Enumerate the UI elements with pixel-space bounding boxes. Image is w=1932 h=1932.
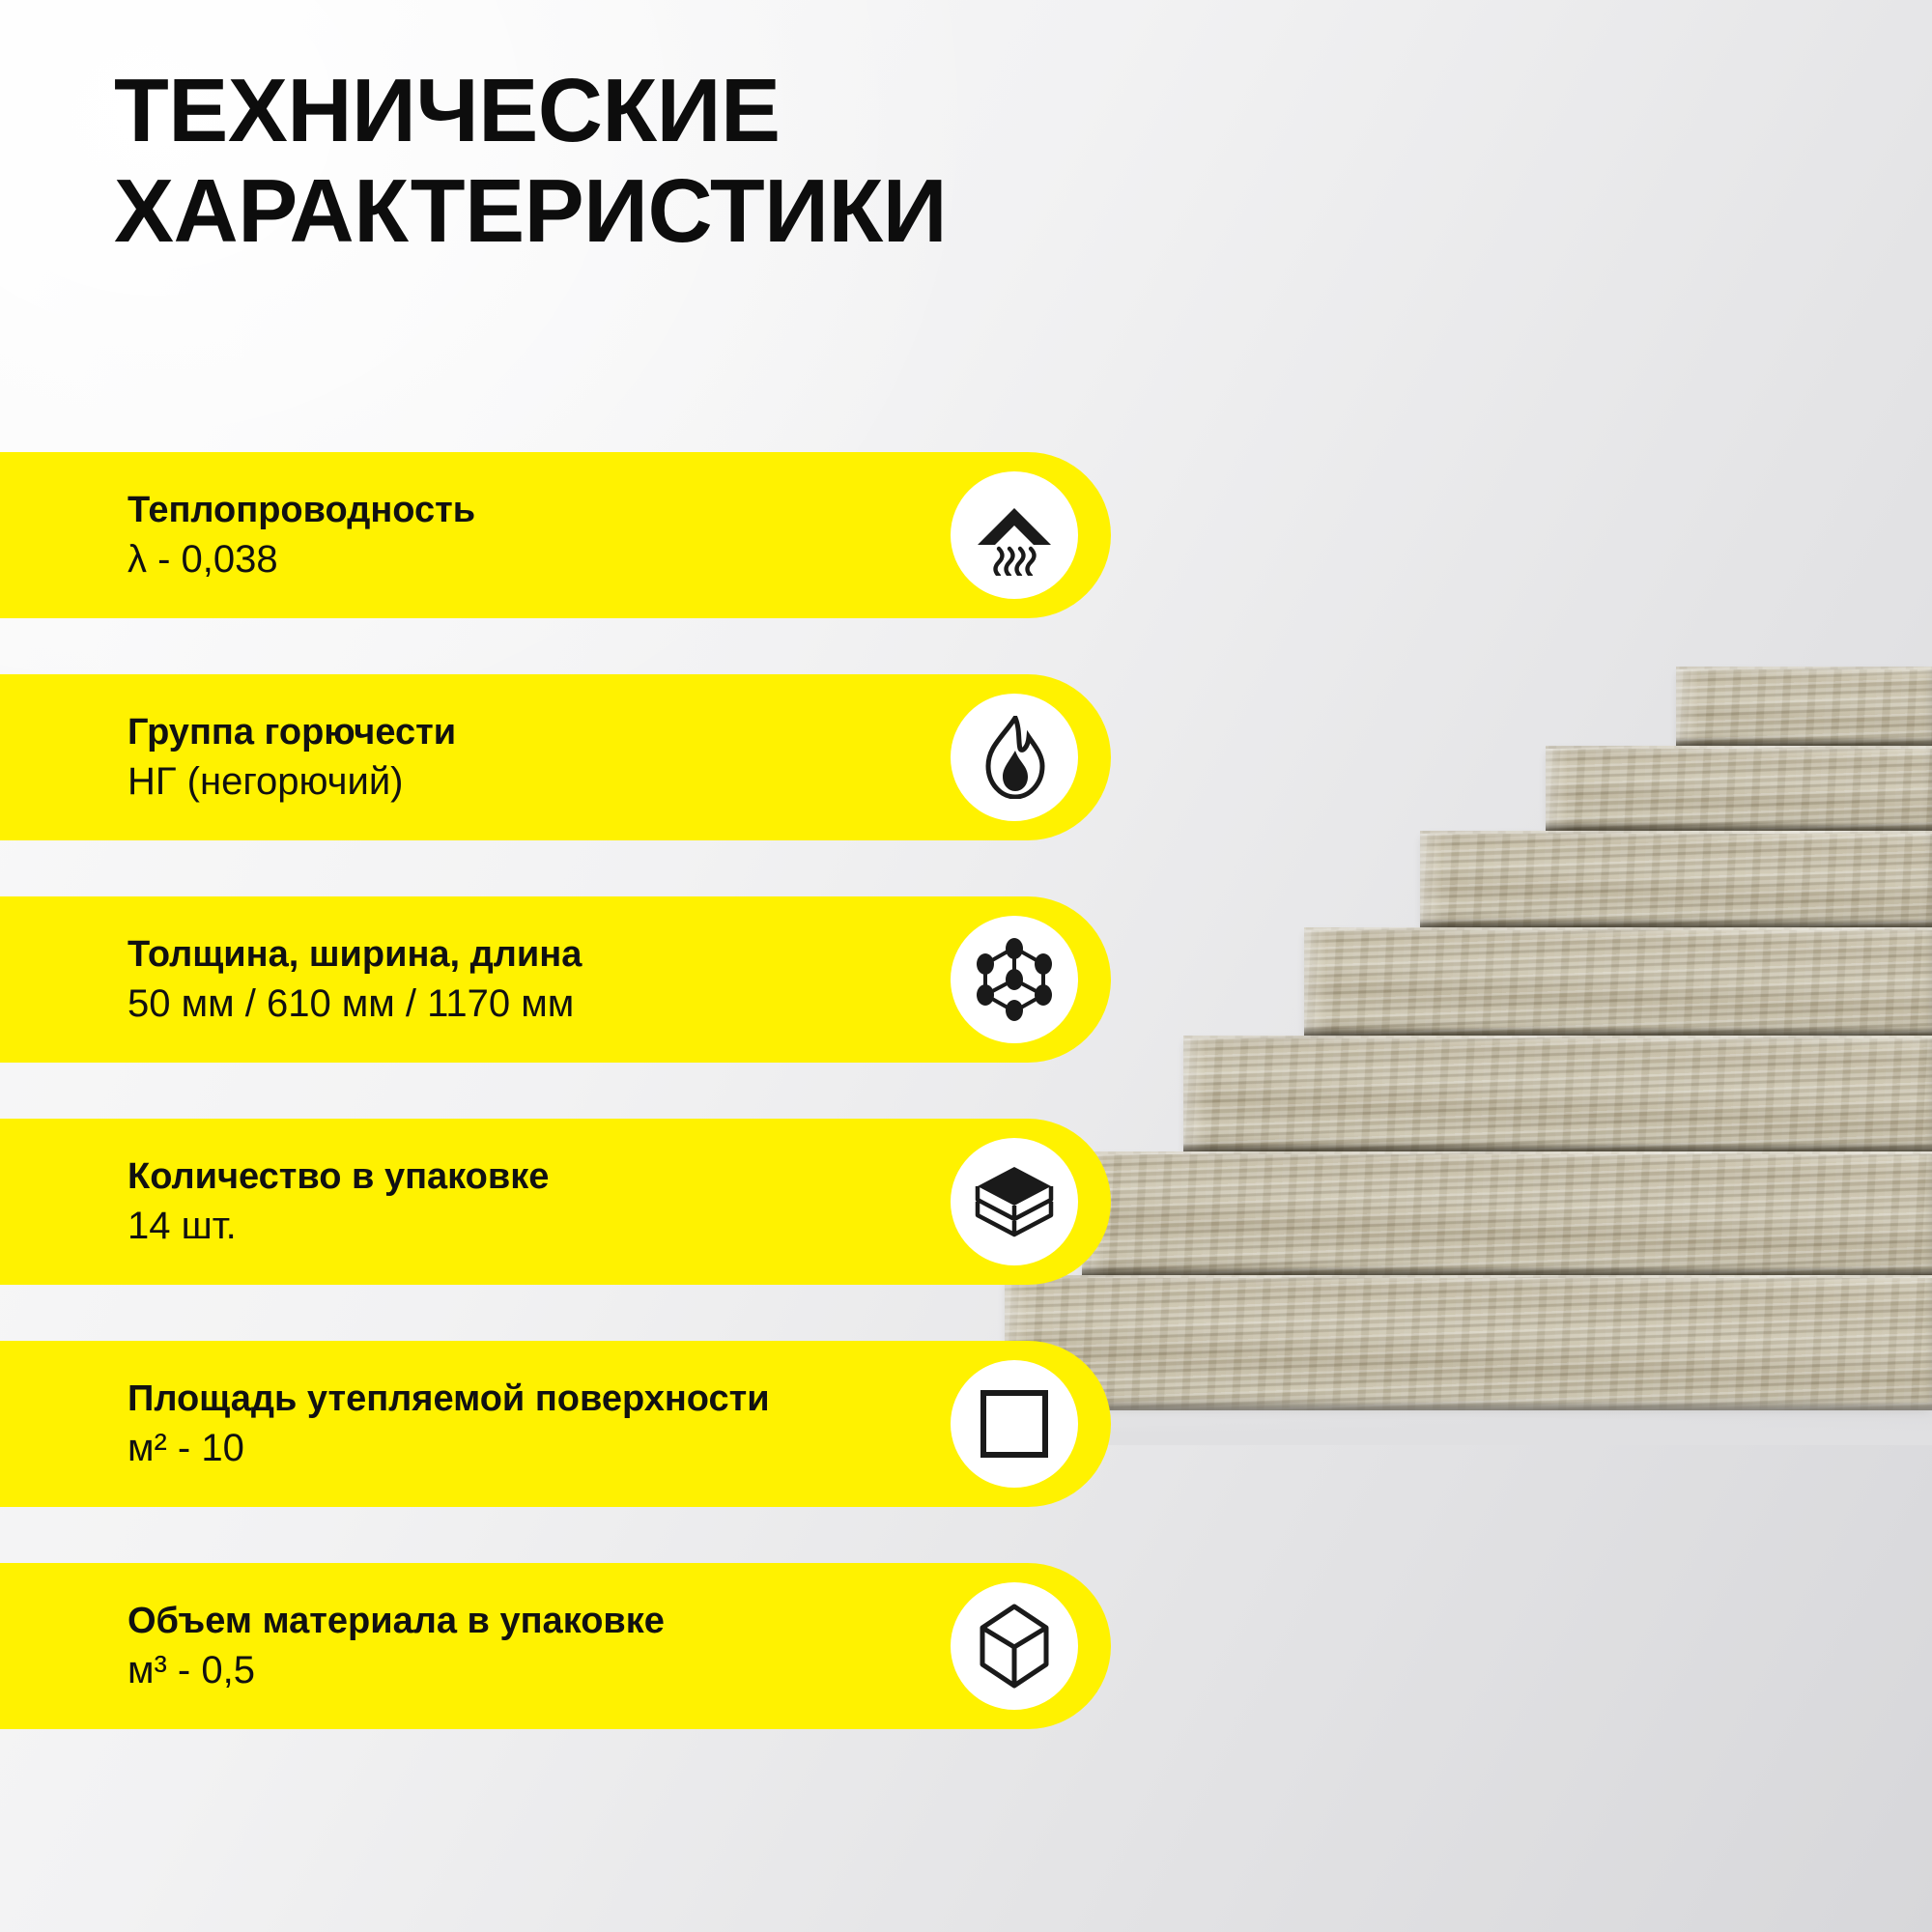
spec-value: λ - 0,038 (128, 540, 475, 579)
product-photo (966, 667, 1932, 1439)
spec-list: Теплопроводность λ - 0,038 (0, 452, 1111, 1785)
spec-text: Объем материала в упаковке м³ - 0,5 (0, 1603, 665, 1690)
spec-value: НГ (негорючий) (128, 762, 456, 801)
flame-icon (977, 716, 1052, 799)
insulation-slab (1304, 927, 1932, 1036)
spec-text: Площадь утепляемой поверхности м² - 10 (0, 1380, 770, 1467)
spec-label: Объем материала в упаковке (128, 1603, 665, 1639)
insulation-slab (1420, 831, 1932, 927)
spec-text: Группа горючести НГ (негорючий) (0, 714, 456, 801)
spec-label: Теплопроводность (128, 492, 475, 528)
spec-row-coverage-area[interactable]: Площадь утепляемой поверхности м² - 10 (0, 1341, 1111, 1507)
spec-text: Толщина, ширина, длина 50 мм / 610 мм / … (0, 936, 582, 1023)
spec-label: Толщина, ширина, длина (128, 936, 582, 973)
photo-bottom-fade (966, 1397, 1932, 1445)
spec-icon-badge (951, 1360, 1078, 1488)
stacked-layers-icon (972, 1163, 1057, 1240)
insulation-slab (1183, 1036, 1932, 1151)
infographic-canvas: ТЕХНИЧЕСКИЕ ХАРАКТЕРИСТИКИ Теплопроводно… (0, 0, 1932, 1932)
spec-value: м² - 10 (128, 1429, 770, 1467)
spec-row-volume-per-pack[interactable]: Объем материала в упаковке м³ - 0,5 (0, 1563, 1111, 1729)
spec-row-quantity-per-pack[interactable]: Количество в упаковке 14 шт. (0, 1119, 1111, 1285)
spec-value: 14 шт. (128, 1207, 549, 1245)
spec-icon-badge (951, 1582, 1078, 1710)
spec-icon-badge (951, 1138, 1078, 1265)
page-title: ТЕХНИЧЕСКИЕ ХАРАКТЕРИСТИКИ (114, 60, 1177, 261)
spec-label: Группа горючести (128, 714, 456, 751)
spec-icon-badge (951, 694, 1078, 821)
spec-icon-badge (951, 471, 1078, 599)
spec-text: Количество в упаковке 14 шт. (0, 1158, 549, 1245)
box-volume-icon (977, 1603, 1052, 1690)
spec-icon-badge (951, 916, 1078, 1043)
cube-nodes-icon (974, 938, 1055, 1021)
insulation-slab (1546, 746, 1932, 831)
spec-row-flammability-group[interactable]: Группа горючести НГ (негорючий) (0, 674, 1111, 840)
spec-row-dimensions[interactable]: Толщина, ширина, длина 50 мм / 610 мм / … (0, 896, 1111, 1063)
spec-label: Количество в упаковке (128, 1158, 549, 1195)
spec-text: Теплопроводность λ - 0,038 (0, 492, 475, 579)
spec-value: 50 мм / 610 мм / 1170 мм (128, 984, 582, 1023)
insulation-slab (1082, 1151, 1932, 1275)
heat-insulation-icon (974, 495, 1055, 576)
insulation-slab (1676, 667, 1932, 746)
spec-row-thermal-conductivity[interactable]: Теплопроводность λ - 0,038 (0, 452, 1111, 618)
square-area-icon (978, 1387, 1051, 1461)
spec-value: м³ - 0,5 (128, 1651, 665, 1690)
spec-label: Площадь утепляемой поверхности (128, 1380, 770, 1417)
insulation-slab (1005, 1275, 1932, 1410)
